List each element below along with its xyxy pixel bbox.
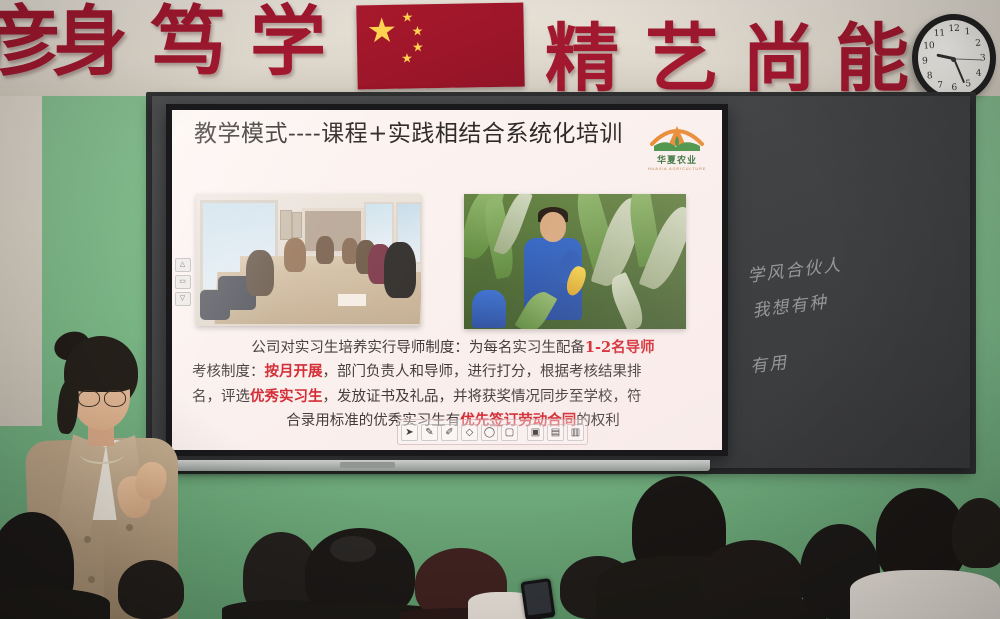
chalk-line-2: 我想有种 (751, 287, 829, 321)
cursor-tool-icon[interactable]: ➤ (401, 424, 418, 441)
flag-star-1: ★ (401, 10, 413, 23)
body-line-3-pre: 名，评选 (192, 389, 250, 405)
body-line-3-post: ，发放证书及礼品，并将获奖情况同步至学校，符 (323, 389, 642, 405)
eraser-tool-icon[interactable]: ◇ (461, 424, 478, 441)
laser-tool-icon[interactable]: ▣ (527, 424, 544, 441)
glasses-lens-left (78, 390, 100, 407)
clock-minute-hand (953, 59, 965, 84)
slide-overview-button[interactable]: ▭ (175, 275, 191, 289)
body-line-2-pre: 考核制度： (192, 364, 265, 380)
pen-tray-slot (340, 462, 395, 468)
flag-star-2: ★ (412, 24, 424, 37)
photo-open-book (338, 294, 366, 306)
clock-number-4: 4 (976, 69, 982, 79)
clock-number-10: 10 (923, 41, 935, 52)
photo-frame-b (292, 212, 302, 238)
glasses-lens-right (104, 390, 126, 407)
slide-title: 教学模式----课程+实践相结合系统化培训 (194, 118, 624, 151)
clock-number-5: 5 (965, 79, 971, 89)
clock-number-1: 1 (964, 27, 970, 37)
flag-star-3: ★ (412, 40, 424, 53)
slide-next-button[interactable]: ▽ (175, 292, 191, 306)
clock-number-7: 7 (937, 81, 943, 91)
presenter-necklace (80, 444, 124, 464)
body-line-3-emphasis: 优秀实习生 (250, 388, 323, 405)
logo-text: 华夏农业 (644, 153, 710, 166)
slide-prev-button[interactable]: △ (175, 258, 191, 272)
toolbar-separator (521, 425, 524, 440)
flag-star-large: ★ (366, 14, 397, 49)
audience-shoulder-9 (850, 570, 1000, 619)
photo-second-worker (472, 290, 506, 328)
presenter-button-1 (84, 536, 91, 543)
body-line-1-emphasis: 1-2名导师 (585, 339, 655, 356)
photo-person-7 (384, 242, 416, 298)
clock-number-11: 11 (933, 28, 945, 39)
huaxia-agriculture-logo: 华夏农业 HUAXIA AGRICULTURE (644, 122, 710, 184)
slide-grid-tool-icon[interactable]: ▤ (547, 424, 564, 441)
classroom-presentation-scene: 彦 身 笃 学 ★ ★ ★ ★ ★ 精 艺 尚 能 12 1 2 3 4 5 6… (0, 0, 1000, 619)
training-classroom-photo (196, 194, 421, 326)
shape-tool-icon[interactable]: ▢ (501, 424, 518, 441)
logo-subtext: HUAXIA AGRICULTURE (644, 166, 710, 171)
body-line-2: 考核制度：按月开展，部门负责人和导师，进行打分，根据考核结果排 (186, 360, 720, 384)
body-line-1-pre: 公司对实习生培养实行导师制度：为每名实习生配备 (251, 340, 585, 356)
photo-frame-a (280, 210, 292, 240)
presentation-ink-toolbar[interactable]: ➤ ✎ ✐ ◇ ◯ ▢ ▣ ▤ ▥ (397, 419, 588, 445)
body-line-2-emphasis: 按月开展 (265, 363, 323, 380)
slide-nav-widget[interactable]: △ ▭ ▽ (175, 258, 190, 306)
pen-tool-icon[interactable]: ✎ (421, 424, 438, 441)
clock-number-12: 12 (948, 24, 960, 35)
body-line-3: 名，评选优秀实习生，发放证书及礼品，并将获奖情况同步至学校，符 (186, 385, 720, 409)
interactive-whiteboard-display[interactable]: 教学模式----课程+实践相结合系统化培训 华夏农业 HUAXIA AGRICU… (166, 104, 728, 456)
body-line-1: 公司对实习生培养实行导师制度：为每名实习生配备1-2名导师 (186, 336, 720, 360)
clock-number-9: 9 (922, 56, 928, 66)
photo-chair-2 (200, 290, 230, 320)
eyeglasses-icon (78, 390, 126, 405)
smartphone-screen (524, 581, 552, 615)
photo-person-1 (246, 250, 274, 296)
clock-number-2: 2 (975, 39, 981, 49)
cornfield-practice-photo (464, 194, 686, 329)
presenter-side-hair (55, 379, 81, 435)
audience-head-11 (118, 560, 184, 619)
highlighter-tool-icon[interactable]: ✐ (441, 424, 458, 441)
slide-surface[interactable]: 教学模式----课程+实践相结合系统化培训 华夏农业 HUAXIA AGRICU… (172, 110, 722, 450)
audience-head-3-highlight (330, 536, 376, 562)
presenter-button-3 (126, 524, 133, 531)
photo-worker-head (540, 212, 566, 242)
presenter-button-2 (88, 576, 95, 583)
chalk-line-1: 学风合伙人 (746, 250, 843, 286)
photo-person-3 (316, 236, 334, 264)
audience-smartphone (520, 578, 555, 619)
flag-star-4: ★ (401, 51, 413, 64)
china-flag: ★ ★ ★ ★ ★ (356, 3, 524, 90)
photo-person-2 (284, 238, 306, 272)
clock-face: 12 1 2 3 4 5 6 7 8 9 10 11 (916, 18, 992, 98)
clock-number-8: 8 (927, 71, 933, 81)
whiteboard-pen-tray (150, 460, 710, 471)
body-line-2-post: ，部门负责人和导师，进行打分，根据考核结果排 (323, 364, 642, 380)
more-tool-icon[interactable]: ▥ (567, 424, 584, 441)
logo-arch-icon (648, 122, 706, 152)
chalk-line-3: 有用 (749, 348, 790, 377)
audience-head-10 (952, 498, 1000, 568)
magnifier-tool-icon[interactable]: ◯ (481, 424, 498, 441)
clock-second-hand (954, 58, 981, 60)
audience-shoulder-1 (0, 588, 110, 619)
